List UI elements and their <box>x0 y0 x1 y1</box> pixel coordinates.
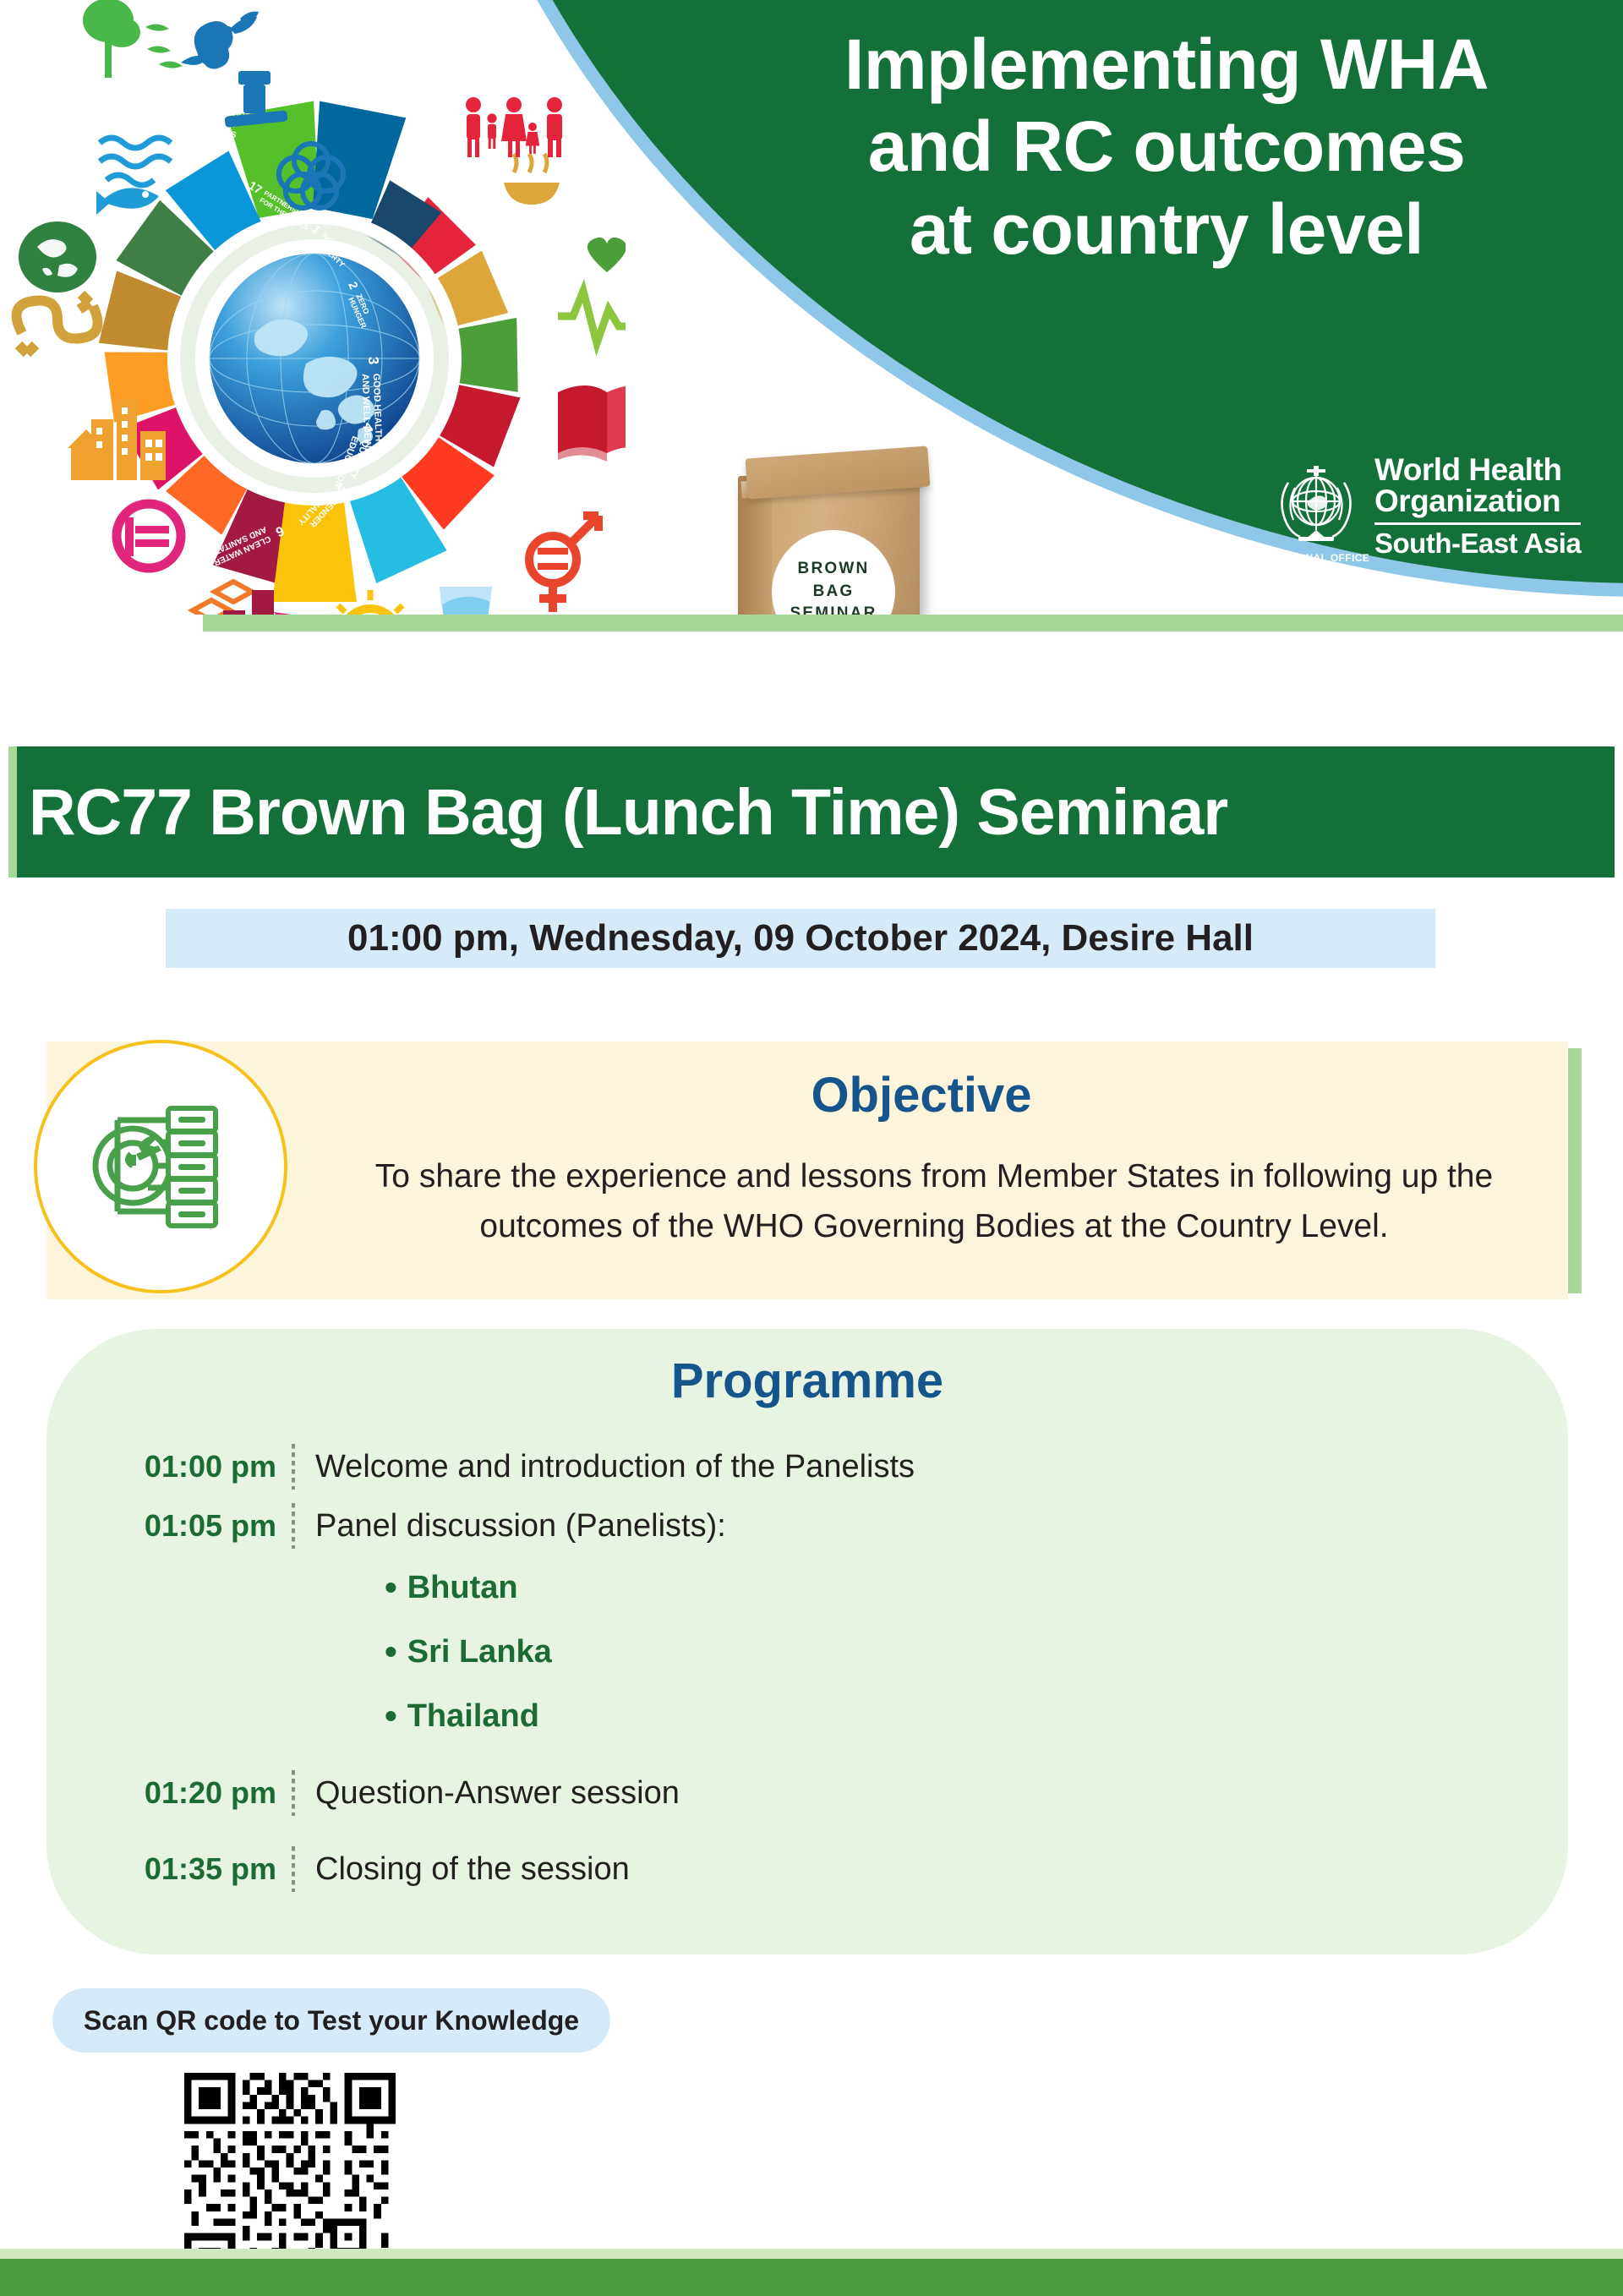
bullet-icon: • <box>385 1634 397 1670</box>
programme-rows: 01:00 pm Welcome and introduction of the… <box>46 1437 1568 1899</box>
svg-text:INDUSTRY, INNOVATION: INDUSTRY, INNOVATION <box>0 418 65 474</box>
who-divider <box>1374 522 1581 525</box>
programme-heading: Programme <box>46 1353 1568 1409</box>
programme-row: 01:00 pm Welcome and introduction of the… <box>46 1437 1568 1496</box>
bag-label-line-3: SEMINAR <box>790 603 877 615</box>
objective-heading: Objective <box>287 1067 1555 1123</box>
panelist-item: • Bhutan <box>46 1555 1568 1620</box>
hero-section: 15 LIFE ON LAND 16 PEACE, JUSTICE AND ST… <box>0 0 1623 615</box>
hero-title-line-2: and RC outcomes <box>744 106 1589 188</box>
panelist-label: Bhutan <box>407 1570 518 1606</box>
footer-light-strip <box>0 2249 1623 2259</box>
objective-body: To share the experience and lessons from… <box>313 1151 1555 1252</box>
sdg-wheel: 15 LIFE ON LAND 16 PEACE, JUSTICE AND ST… <box>0 0 626 615</box>
programme-row-text: Question-Answer session <box>295 1763 680 1823</box>
who-regional-office-label: REGIONAL OFFICE FOR <box>1270 552 1371 576</box>
hero-title-line-3: at country level <box>744 189 1589 271</box>
who-line-1: World Health <box>1374 454 1581 485</box>
svg-text:3: 3 <box>365 356 381 364</box>
programme-row-time: 01:20 pm <box>46 1763 292 1823</box>
footer-green-strip <box>0 2259 1623 2296</box>
panelist-label: Sri Lanka <box>407 1634 552 1670</box>
svg-text:15: 15 <box>98 84 123 109</box>
bag-label-line-1: BROWN <box>798 558 870 581</box>
panelist-label: Thailand <box>407 1698 539 1735</box>
panelist-item: • Thailand <box>46 1684 1568 1748</box>
programme-row: 01:35 pm Closing of the session <box>46 1840 1568 1899</box>
svg-text:7: 7 <box>184 575 193 589</box>
programme-row-text: Welcome and introduction of the Panelist… <box>295 1437 915 1496</box>
bullet-icon: • <box>385 1570 397 1605</box>
programme-row-time: 01:00 pm <box>46 1437 292 1496</box>
bullet-icon: • <box>385 1698 397 1734</box>
who-line-2: Organization <box>1374 485 1581 518</box>
event-datetime-venue: 01:00 pm, Wednesday, 09 October 2024, De… <box>166 909 1435 968</box>
brown-bag-illustration: BROWN BAG SEMINAR <box>723 427 934 615</box>
hero-title-line-1: Implementing WHA <box>744 24 1589 106</box>
programme-row: 01:05 pm Panel discussion (Panelists): <box>46 1496 1568 1555</box>
qr-instruction-pill: Scan QR code to Test your Knowledge <box>52 1988 610 2053</box>
objective-accent-bar <box>1568 1048 1582 1293</box>
programme-row-text: Closing of the session <box>295 1840 630 1899</box>
who-logo: REGIONAL OFFICE FOR World Health Organiz… <box>1270 451 1599 560</box>
svg-text:10: 10 <box>33 407 52 424</box>
programme-row: 01:20 pm Question-Answer session <box>46 1763 1568 1823</box>
target-checklist-icon <box>80 1085 241 1249</box>
page-title: RC77 Brown Bag (Lunch Time) Seminar <box>29 761 1601 864</box>
who-line-3: South-East Asia <box>1374 529 1581 557</box>
bag-label-line-2: BAG <box>813 581 855 604</box>
panelist-item: • Sri Lanka <box>46 1620 1568 1684</box>
hero-light-green-bar <box>203 615 1623 631</box>
objective-icon-circle <box>34 1040 287 1293</box>
who-emblem-icon: REGIONAL OFFICE FOR <box>1270 459 1363 552</box>
programme-row-time: 01:35 pm <box>46 1840 292 1899</box>
svg-text:16: 16 <box>160 96 180 116</box>
svg-text:8: 8 <box>96 511 107 528</box>
hero-title: Implementing WHA and RC outcomes at coun… <box>744 24 1589 271</box>
programme-row-text: Panel discussion (Panelists): <box>295 1496 726 1555</box>
poster-page: 15 LIFE ON LAND 16 PEACE, JUSTICE AND ST… <box>0 0 1623 2296</box>
who-wordmark: World Health Organization South-East Asi… <box>1374 454 1581 557</box>
programme-row-time: 01:05 pm <box>46 1496 292 1555</box>
